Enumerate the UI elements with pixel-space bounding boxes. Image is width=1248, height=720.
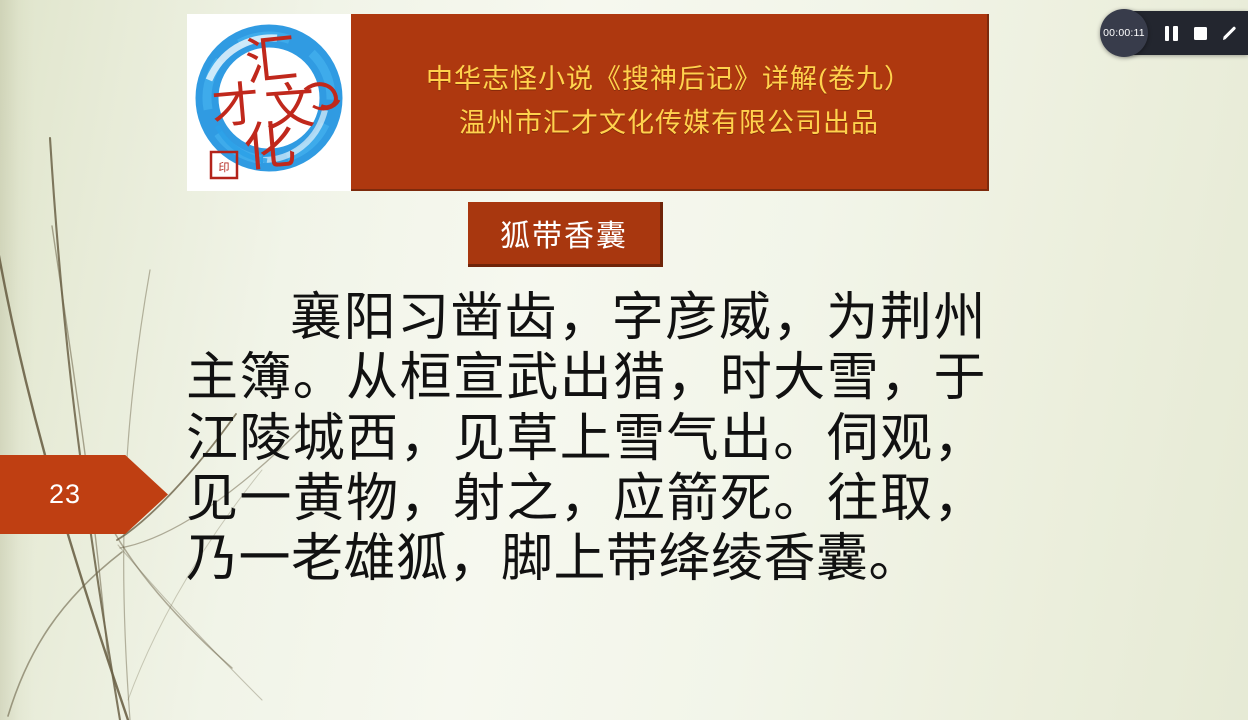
presentation-slide: 汇 才 文 化 印 中华志怪小说《搜神后记》详解(卷九） 温州市汇才文化传媒有限… bbox=[0, 0, 1248, 720]
story-body-text: 襄阳习凿齿，字彦威，为荆州主簿。从桓宣武出猎，时大雪，于江陵城西，见草上雪气出。… bbox=[186, 288, 986, 590]
pencil-icon[interactable] bbox=[1220, 24, 1238, 42]
screen-recorder-toolbar[interactable]: 00:00:11 bbox=[1110, 9, 1248, 57]
slide-number-label: 23 bbox=[49, 479, 81, 510]
slide-number-badge: 23 bbox=[0, 455, 168, 534]
recording-timer: 00:00:11 bbox=[1100, 9, 1148, 57]
stop-icon[interactable] bbox=[1191, 24, 1209, 42]
company-logo: 汇 才 文 化 印 bbox=[187, 14, 351, 191]
story-title-label: 狐带香囊 bbox=[500, 211, 628, 255]
title-line-1: 中华志怪小说《搜神后记》详解(卷九） bbox=[426, 60, 912, 99]
recorder-pill[interactable]: 00:00:11 bbox=[1110, 11, 1248, 55]
title-line-2: 温州市汇才文化传媒有限公司出品 bbox=[459, 104, 879, 143]
pause-icon[interactable] bbox=[1162, 24, 1180, 42]
title-banner: 中华志怪小说《搜神后记》详解(卷九） 温州市汇才文化传媒有限公司出品 bbox=[351, 14, 989, 191]
svg-text:印: 印 bbox=[219, 161, 230, 174]
story-title-chip: 狐带香囊 bbox=[468, 202, 663, 267]
svg-text:化: 化 bbox=[241, 115, 298, 179]
